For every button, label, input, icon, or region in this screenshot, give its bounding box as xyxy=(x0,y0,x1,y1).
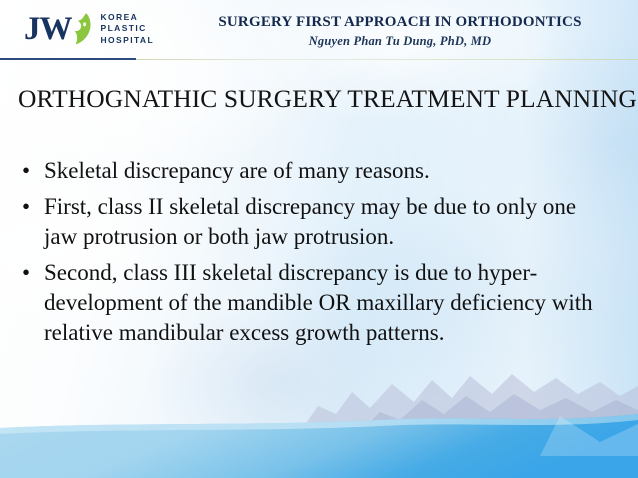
slide-header: JW KOREA PLASTIC HOSPITAL SURGERY FIRST … xyxy=(0,0,638,60)
list-item-text: Second, class III skeletal discrepancy i… xyxy=(44,258,614,348)
bullet-marker-icon: • xyxy=(18,192,44,222)
header-divider-dark xyxy=(0,58,136,60)
list-item: • Second, class III skeletal discrepancy… xyxy=(18,258,614,348)
leaf-face-icon xyxy=(73,12,92,46)
presenter-name: Nguyen Phan Tu Dung, PhD, MD xyxy=(180,34,620,49)
header-divider-light xyxy=(136,59,638,60)
bullet-list: • Skeletal discrepancy are of many reaso… xyxy=(18,156,614,354)
header-title-block: SURGERY FIRST APPROACH IN ORTHODONTICS N… xyxy=(180,14,620,49)
logo-wordmark: KOREA PLASTIC HOSPITAL xyxy=(101,12,155,46)
logo-word-line-1: KOREA xyxy=(101,12,155,23)
logo-word-line-2: PLASTIC xyxy=(101,23,155,34)
lecture-title: SURGERY FIRST APPROACH IN ORTHODONTICS xyxy=(180,14,620,31)
sea-band-graphic xyxy=(0,406,638,478)
presentation-slide: JW KOREA PLASTIC HOSPITAL SURGERY FIRST … xyxy=(0,0,638,478)
page-title: ORTHOGNATHIC SURGERY TREATMENT PLANNING xyxy=(18,84,637,114)
logo-word-line-3: HOSPITAL xyxy=(101,35,155,46)
list-item: • Skeletal discrepancy are of many reaso… xyxy=(18,156,614,186)
list-item-text: Skeletal discrepancy are of many reasons… xyxy=(44,156,614,186)
jw-hospital-logo: JW KOREA PLASTIC HOSPITAL xyxy=(24,12,154,46)
list-item: • First, class II skeletal discrepancy m… xyxy=(18,192,614,252)
bullet-marker-icon: • xyxy=(18,156,44,186)
list-item-text: First, class II skeletal discrepancy may… xyxy=(44,192,614,252)
logo-monogram: JW xyxy=(24,13,72,46)
bullet-marker-icon: • xyxy=(18,258,44,288)
